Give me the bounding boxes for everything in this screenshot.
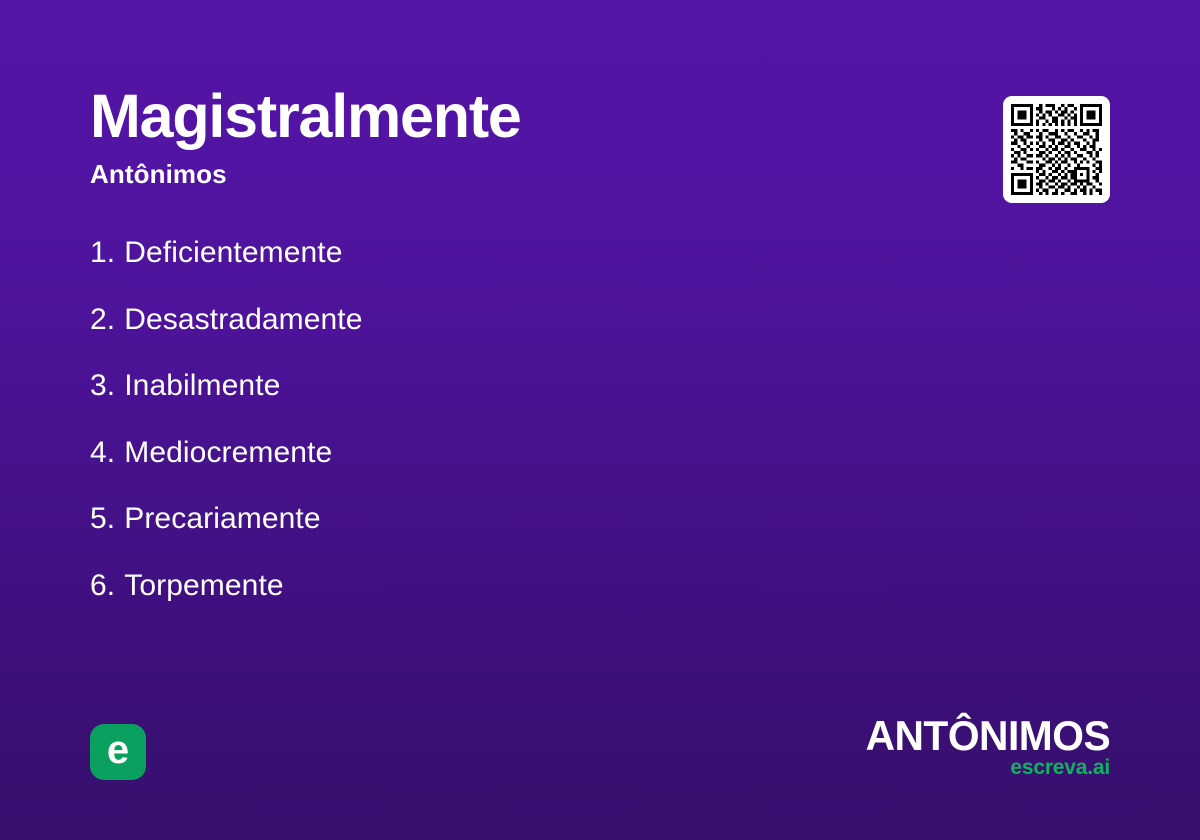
list-item-label: Torpemente xyxy=(124,569,283,603)
qr-code-icon xyxy=(1011,104,1102,195)
antonimos-wordmark: ANTÔNIMOS escreva.ai xyxy=(858,716,1110,778)
list-item: 3. Inabilmente xyxy=(90,369,950,436)
wordmark-domain: escreva.ai xyxy=(858,757,1110,778)
escreva-logo-icon[interactable]: e xyxy=(90,724,146,780)
list-item: 2. Desastradamente xyxy=(90,303,950,370)
page-subtitle: Antônimos xyxy=(90,161,930,187)
list-item: 1. Deficientemente xyxy=(90,236,950,303)
list-item-label: Desastradamente xyxy=(124,303,362,337)
list-item: 5. Precariamente xyxy=(90,502,950,569)
list-item-label: Deficientemente xyxy=(124,236,342,270)
list-item-label: Precariamente xyxy=(124,502,320,536)
list-item-index: 1. xyxy=(90,236,115,270)
page-title: Magistralmente xyxy=(90,86,930,147)
list-item-label: Inabilmente xyxy=(124,369,280,403)
qr-code-card[interactable] xyxy=(1003,96,1110,203)
list-item-index: 3. xyxy=(90,369,115,403)
antonym-list: 1. Deficientemente 2. Desastradamente 3.… xyxy=(90,236,950,635)
list-item: 6. Torpemente xyxy=(90,569,950,636)
list-item-label: Mediocremente xyxy=(124,436,332,470)
brand-badge-letter: e xyxy=(107,730,129,770)
list-item-index: 5. xyxy=(90,502,115,536)
list-item-index: 6. xyxy=(90,569,115,603)
wordmark-title: ANTÔNIMOS xyxy=(865,716,1110,756)
card-header: Magistralmente Antônimos xyxy=(90,86,930,187)
antonyms-card: Magistralmente Antônimos 1. Deficienteme… xyxy=(0,0,1200,840)
list-item: 4. Mediocremente xyxy=(90,436,950,503)
list-item-index: 2. xyxy=(90,303,115,337)
list-item-index: 4. xyxy=(90,436,115,470)
